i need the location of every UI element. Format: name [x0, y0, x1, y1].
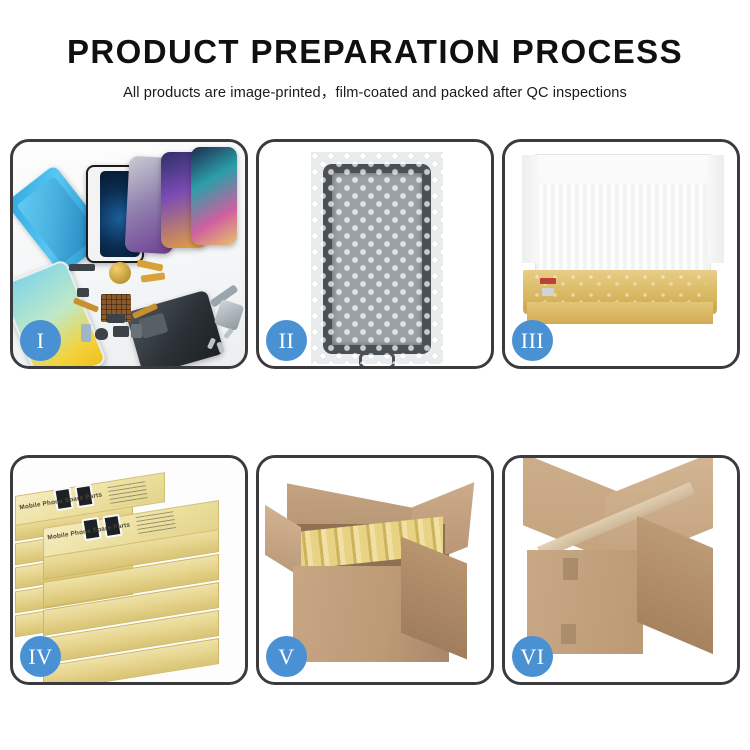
step-badge-6: VI: [512, 636, 553, 677]
phone-display-icon: [191, 147, 237, 245]
component-icon: [95, 328, 108, 340]
wrapped-screen-icon: [532, 272, 706, 303]
product-preparation-infographic: PRODUCT PREPARATION PROCESS All products…: [0, 0, 750, 750]
component-icon: [77, 288, 89, 297]
step-panel-1: I: [10, 139, 248, 369]
kraft-box-front-icon: [527, 302, 713, 324]
step-panel-4: Mobile Phone Spare Parts Mobile Phone Sp…: [10, 455, 248, 685]
carton-seam-icon: [563, 558, 578, 580]
foam-liner-icon: [539, 184, 707, 274]
component-icon: [107, 314, 125, 323]
bubble-wrap-overlay: [311, 152, 443, 364]
step-panel-6: VI: [502, 455, 740, 685]
page-title: PRODUCT PREPARATION PROCESS: [0, 34, 750, 70]
component-icon: [81, 324, 91, 342]
step-badge-5: V: [266, 636, 307, 677]
component-icon: [131, 324, 142, 338]
component-icon: [69, 264, 95, 271]
component-icon: [113, 326, 129, 337]
bubble-wrap-sheet: [311, 152, 443, 364]
speaker-coil-icon: [109, 262, 131, 284]
step-panel-3: III: [502, 139, 740, 369]
header: PRODUCT PREPARATION PROCESS All products…: [0, 0, 750, 102]
step-panel-5: V: [256, 455, 494, 685]
step-badge-4: IV: [20, 636, 61, 677]
carton-seam-icon: [561, 624, 576, 644]
step-panel-2: II: [256, 139, 494, 369]
page-subtitle: All products are image-printed，film-coat…: [0, 81, 750, 102]
carton-front-icon: [527, 550, 643, 654]
step-badge-1: I: [20, 320, 61, 361]
step-badge-3: III: [512, 320, 553, 361]
process-step-grid: I II III: [10, 139, 740, 685]
step-badge-2: II: [266, 320, 307, 361]
